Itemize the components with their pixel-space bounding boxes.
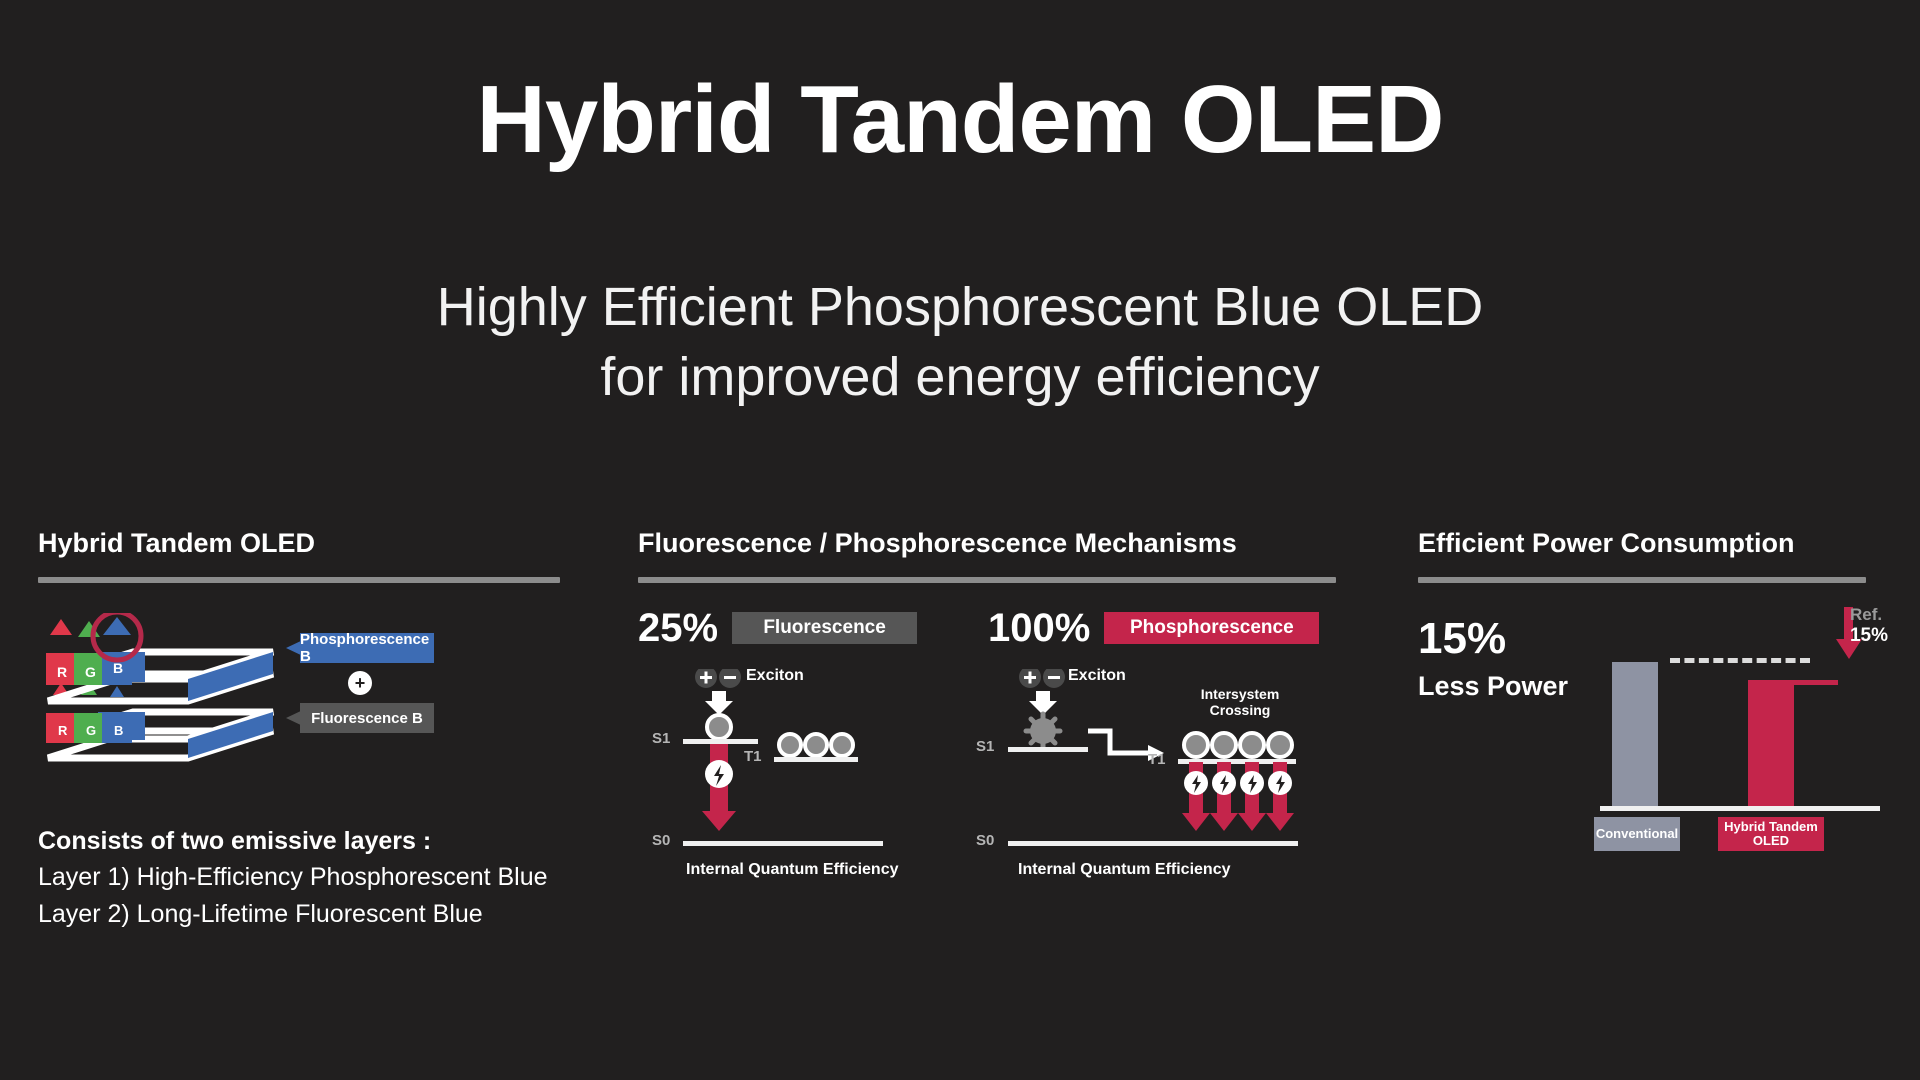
svg-text:G: G <box>85 664 96 680</box>
fluorescence-caption: Internal Quantum Efficiency <box>686 861 898 879</box>
s1-electron-icon <box>707 715 731 739</box>
power-savings-label: Less Power <box>1418 671 1568 702</box>
chart-baseline-axis <box>1600 806 1880 811</box>
level-line-t1 <box>774 757 858 762</box>
page-title: Hybrid Tandem OLED <box>0 72 1920 168</box>
phosphorescence-tag: Phosphorescence <box>1104 612 1319 644</box>
reference-label: Ref. <box>1850 605 1888 625</box>
bar-label-hybrid-tandem: Hybrid Tandem OLED <box>1718 817 1824 851</box>
layer-item-2: Layer 2) Long-Lifetime Fluorescent Blue <box>38 899 570 930</box>
level-line-s1 <box>683 739 758 744</box>
panel-hybrid-tandem-oled: Hybrid Tandem OLED <box>38 528 570 930</box>
t1-electron-icon <box>779 734 801 756</box>
bar-conventional <box>1612 662 1658 807</box>
level-label-s1: S1 <box>976 738 994 755</box>
power-savings-percent: 15% <box>1418 617 1506 661</box>
phosphorescence-jablonski-diagram: Exciton Intersystem Crossing <box>988 669 1338 889</box>
level-line-s1 <box>1008 747 1088 752</box>
layer-item-1: Layer 1) High-Efficiency Phosphorescent … <box>38 862 570 893</box>
bar-hybrid-top-extension <box>1748 680 1838 685</box>
svg-text:B: B <box>114 723 123 738</box>
fluorescence-percent: 25% <box>638 608 718 648</box>
level-label-t1: T1 <box>1148 751 1166 768</box>
emission-arrow-fluorescence <box>702 744 736 831</box>
level-label-s1: S1 <box>652 730 670 747</box>
mechanism-phosphorescence: 100% Phosphorescence Exciton Intersystem… <box>988 609 1338 889</box>
consists-heading: Consists of two emissive layers : <box>38 827 570 856</box>
fluorescence-jablonski-diagram: Exciton <box>638 669 968 889</box>
plus-icon: + <box>348 671 372 695</box>
phosphorescence-svg <box>988 669 1318 869</box>
t1-electron-icon <box>1184 733 1208 757</box>
subtitle-line-2: for improved energy efficiency <box>0 342 1920 412</box>
section-divider <box>638 577 1336 583</box>
reference-dashed-line <box>1670 658 1810 663</box>
t1-electron-icon <box>1240 733 1264 757</box>
exciton-down-arrow-icon <box>705 691 733 715</box>
power-chart-area: 15% Less Power Ref. 15% Conventional <box>1418 609 1880 859</box>
level-label-s0: S0 <box>976 832 994 849</box>
svg-text:R: R <box>58 723 68 738</box>
slide-root: Hybrid Tandem OLED Highly Efficient Phos… <box>0 0 1920 1080</box>
t1-electron-icon <box>1212 733 1236 757</box>
svg-text:R: R <box>57 664 67 680</box>
panel-mechanisms: Fluorescence / Phosphorescence Mechanism… <box>638 528 1350 899</box>
section-title-mechanisms: Fluorescence / Phosphorescence Mechanism… <box>638 528 1350 559</box>
top-emission-arrows <box>50 617 131 653</box>
svg-text:G: G <box>86 723 96 738</box>
section-title-power: Efficient Power Consumption <box>1418 528 1880 559</box>
reference-annotation: Ref. 15% <box>1850 605 1888 646</box>
callout-phosphorescence-b: Phosphorescence B <box>286 633 434 663</box>
phosphorescence-caption: Internal Quantum Efficiency <box>1018 861 1230 879</box>
section-title-hybrid-tandem: Hybrid Tandem OLED <box>38 528 570 559</box>
t1-electron-icon <box>831 734 853 756</box>
reference-percent: 15% <box>1850 625 1888 647</box>
page-subtitle: Highly Efficient Phosphorescent Blue OLE… <box>0 272 1920 412</box>
stack-isometric-svg: R G B R G <box>38 613 288 788</box>
fluorescence-svg <box>638 669 938 869</box>
s1-excited-electron-icon <box>1026 714 1060 748</box>
panel-power-consumption: Efficient Power Consumption 15% Less Pow… <box>1418 528 1880 859</box>
t1-electron-icon <box>1268 733 1292 757</box>
phosphorescence-percent: 100% <box>988 608 1090 648</box>
oled-stack-diagram: R G B R G <box>38 613 570 793</box>
t1-electron-icon <box>805 734 827 756</box>
intersystem-crossing-path <box>1088 731 1150 753</box>
bar-label-conventional: Conventional <box>1594 817 1680 851</box>
level-label-t1: T1 <box>744 748 762 765</box>
level-label-s0: S0 <box>652 832 670 849</box>
power-bar-chart: Ref. 15% Conventional Hybrid Tandem OLED <box>1600 609 1880 859</box>
level-line-s0 <box>683 841 883 846</box>
section-divider <box>38 577 560 583</box>
exciton-down-arrow-icon <box>1029 691 1057 715</box>
level-line-s0 <box>1008 841 1298 846</box>
fluorescence-tag: Fluorescence <box>732 612 917 644</box>
subtitle-line-1: Highly Efficient Phosphorescent Blue OLE… <box>437 277 1484 337</box>
emission-arrows-phosphorescence <box>1182 762 1294 831</box>
mechanism-fluorescence: 25% Fluorescence Exciton <box>638 609 968 889</box>
stack-callouts: Phosphorescence B + Fluorescence B <box>286 633 556 733</box>
section-divider <box>1418 577 1866 583</box>
bar-hybrid-tandem <box>1748 685 1794 807</box>
callout-fluorescence-b: Fluorescence B <box>286 703 434 733</box>
